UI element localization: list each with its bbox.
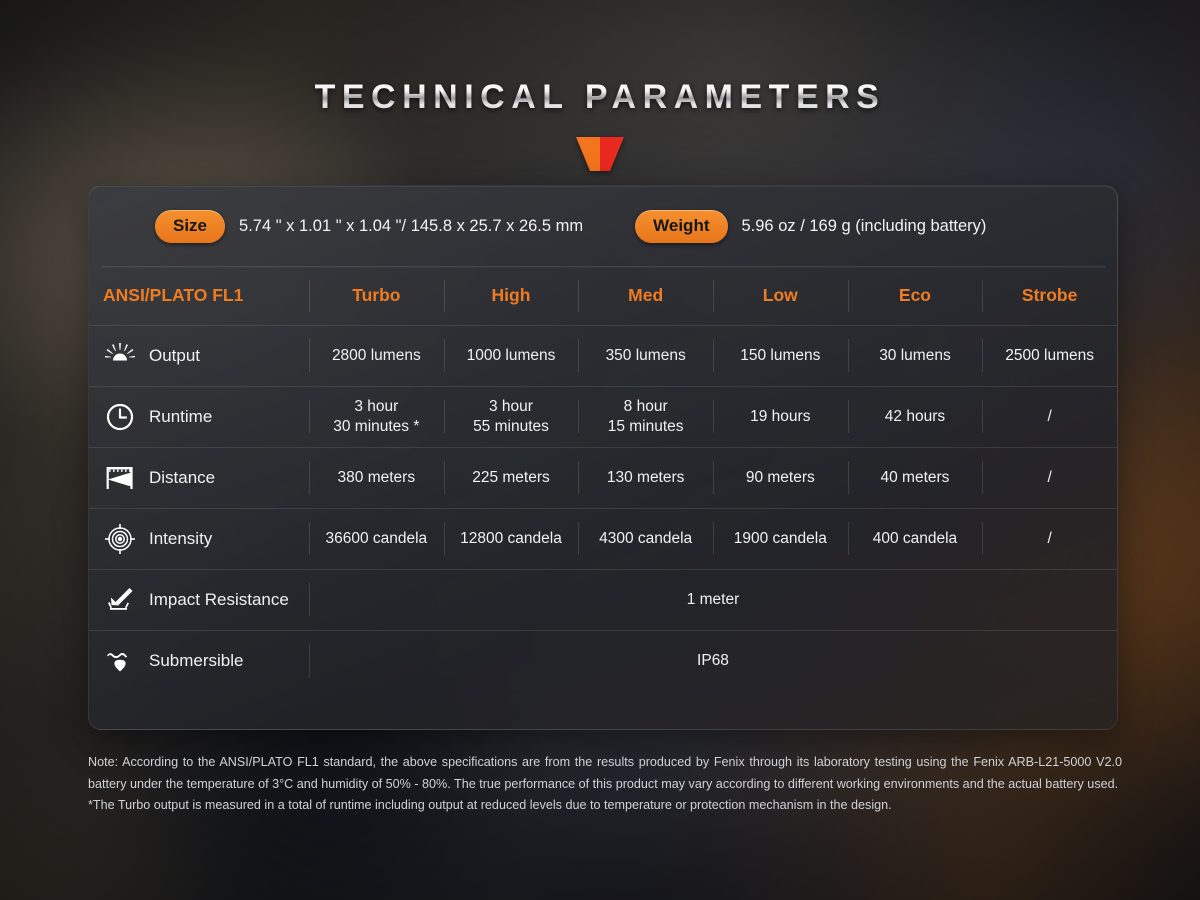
table-row-runtime: Runtime 3 hour 30 minutes * 3 hour 55 mi…: [89, 386, 1117, 447]
spec-table: ANSI/PLATO FL1 Turbo High Med Low Eco St…: [89, 267, 1117, 691]
cell-distance-strobe: /: [982, 447, 1117, 508]
water-drop-icon: [103, 644, 137, 678]
col-header-med: Med: [578, 267, 713, 325]
footnote-line-1: Note: According to the ANSI/PLATO FL1 st…: [88, 752, 1122, 795]
cell-output-eco: 30 lumens: [848, 325, 983, 386]
row-label-runtime: Runtime: [89, 386, 309, 447]
target-intensity-icon: [103, 522, 137, 556]
row-label-text: Output: [149, 346, 200, 366]
cell-intensity-strobe: /: [982, 508, 1117, 569]
cell-runtime-strobe: /: [982, 386, 1117, 447]
cell-distance-low: 90 meters: [713, 447, 848, 508]
size-pill: Size: [155, 210, 225, 243]
line-1: 8 hour: [578, 397, 713, 417]
summary-row: Size 5.74 " x 1.01 " x 1.04 "/ 145.8 x 2…: [89, 186, 1117, 266]
line-2: 55 minutes: [444, 417, 579, 437]
cell-distance-high: 225 meters: [444, 447, 579, 508]
chevron-down-icon: [576, 137, 624, 171]
cell-intensity-high: 12800 candela: [444, 508, 579, 569]
row-label-submersible: Submersible: [89, 630, 309, 691]
row-label-output: Output: [89, 325, 309, 386]
table-row-impact-resistance: Impact Resistance 1 meter: [89, 569, 1117, 630]
row-label-text: Submersible: [149, 651, 244, 671]
cell-distance-eco: 40 meters: [848, 447, 983, 508]
cell-distance-med: 130 meters: [578, 447, 713, 508]
table-header-row: ANSI/PLATO FL1 Turbo High Med Low Eco St…: [89, 267, 1117, 325]
cell-output-turbo: 2800 lumens: [309, 325, 444, 386]
table-row-output: Output 2800 lumens 1000 lumens 350 lumen…: [89, 325, 1117, 386]
footnote-line-2: *The Turbo output is measured in a total…: [88, 795, 1122, 817]
cell-output-low: 150 lumens: [713, 325, 848, 386]
row-label-text: Distance: [149, 468, 215, 488]
cell-runtime-turbo: 3 hour 30 minutes *: [309, 386, 444, 447]
size-block: Size 5.74 " x 1.01 " x 1.04 "/ 145.8 x 2…: [155, 210, 583, 243]
line-1: 3 hour: [444, 397, 579, 417]
weight-pill: Weight: [635, 210, 727, 243]
cell-runtime-high: 3 hour 55 minutes: [444, 386, 579, 447]
cell-output-high: 1000 lumens: [444, 325, 579, 386]
cell-runtime-med: 8 hour 15 minutes: [578, 386, 713, 447]
row-label-text: Impact Resistance: [149, 590, 289, 610]
line-2: 15 minutes: [578, 417, 713, 437]
cell-distance-turbo: 380 meters: [309, 447, 444, 508]
cell-intensity-turbo: 36600 candela: [309, 508, 444, 569]
table-row-distance: Distance 380 meters 225 meters 130 meter…: [89, 447, 1117, 508]
col-header-ansi: ANSI/PLATO FL1: [89, 267, 309, 325]
line-2: 30 minutes *: [309, 417, 444, 437]
row-label-text: Runtime: [149, 407, 212, 427]
cell-intensity-low: 1900 candela: [713, 508, 848, 569]
size-value: 5.74 " x 1.01 " x 1.04 "/ 145.8 x 25.7 x…: [239, 217, 583, 236]
cell-runtime-low: 19 hours: [713, 386, 848, 447]
table-row-intensity: Intensity 36600 candela 12800 candela 43…: [89, 508, 1117, 569]
line-1: 3 hour: [309, 397, 444, 417]
page-title-wrap: TECHNICAL PARAMETERS: [0, 78, 1200, 117]
spec-card: Size 5.74 " x 1.01 " x 1.04 "/ 145.8 x 2…: [88, 185, 1118, 730]
weight-block: Weight 5.96 oz / 169 g (including batter…: [635, 210, 986, 243]
table-row-submersible: Submersible IP68: [89, 630, 1117, 691]
col-header-strobe: Strobe: [982, 267, 1117, 325]
clock-icon: [103, 400, 137, 434]
page-root: TECHNICAL PARAMETERS Size 5.74 " x 1.01 …: [0, 0, 1200, 900]
col-header-low: Low: [713, 267, 848, 325]
beam-distance-icon: [103, 461, 137, 495]
impact-arrow-icon: [103, 583, 137, 617]
col-header-turbo: Turbo: [309, 267, 444, 325]
cell-runtime-eco: 42 hours: [848, 386, 983, 447]
chevron-divider: [0, 137, 1200, 176]
page-title: TECHNICAL PARAMETERS: [315, 78, 886, 117]
row-label-distance: Distance: [89, 447, 309, 508]
row-label-text: Intensity: [149, 529, 212, 549]
cell-output-strobe: 2500 lumens: [982, 325, 1117, 386]
cell-submersible-value: IP68: [309, 630, 1117, 691]
sunburst-icon: [103, 339, 137, 373]
footnote: Note: According to the ANSI/PLATO FL1 st…: [88, 752, 1122, 817]
cell-impact-resistance-value: 1 meter: [309, 569, 1117, 630]
row-label-impact-resistance: Impact Resistance: [89, 569, 309, 630]
col-header-high: High: [444, 267, 579, 325]
cell-output-med: 350 lumens: [578, 325, 713, 386]
row-label-intensity: Intensity: [89, 508, 309, 569]
weight-value: 5.96 oz / 169 g (including battery): [742, 217, 987, 236]
cell-intensity-med: 4300 candela: [578, 508, 713, 569]
col-header-eco: Eco: [848, 267, 983, 325]
cell-intensity-eco: 400 candela: [848, 508, 983, 569]
